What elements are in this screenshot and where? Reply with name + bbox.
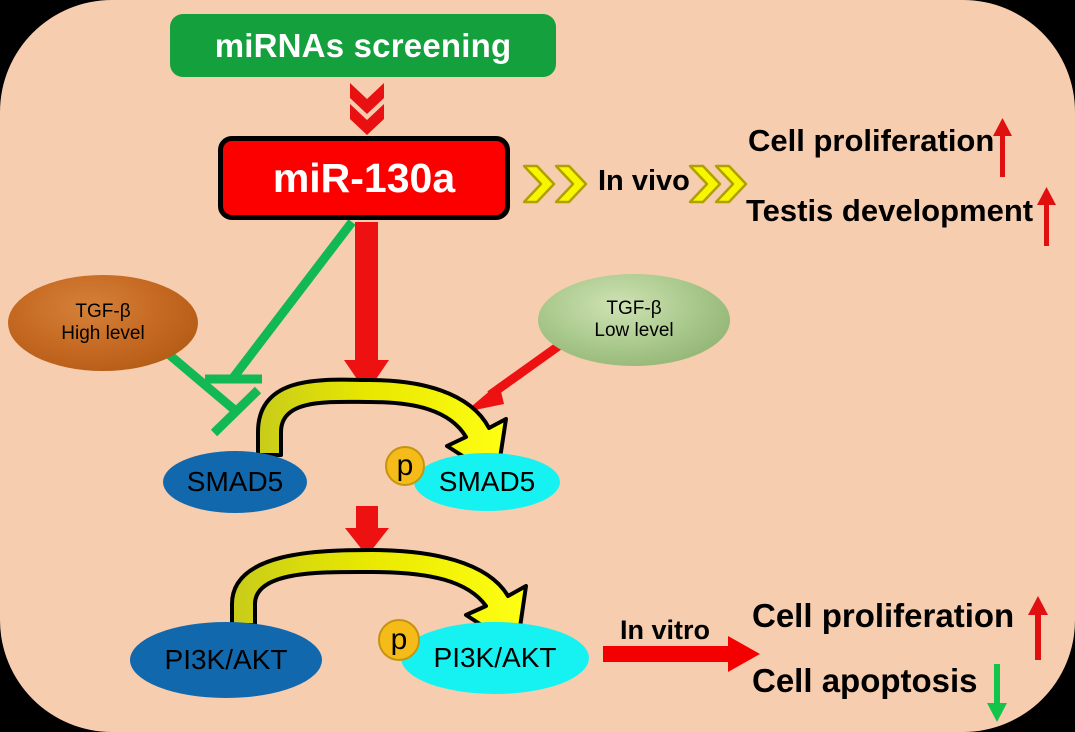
tgfb-low-level-node[interactable]: TGF-β Low level	[538, 274, 730, 366]
phosphate-badge-pi3k-icon: p	[378, 619, 420, 661]
cell-proliferation-top-label: Cell proliferation	[748, 123, 994, 159]
pi3k-akt-node[interactable]: PI3K/AKT	[130, 622, 322, 698]
smad5-label: SMAD5	[187, 466, 283, 498]
arrow-smad5-to-pi3k	[345, 506, 389, 556]
mir-130a-box[interactable]: miR-130a	[218, 136, 510, 220]
cell-apoptosis-label: Cell apoptosis	[752, 662, 978, 700]
arrow-mirna-to-smad5-pathway	[344, 222, 389, 393]
testis-development-label: Testis development	[746, 193, 1033, 229]
inhibition-from-tgfb-high	[166, 352, 258, 433]
in-vivo-label: In vivo	[598, 165, 690, 198]
in-vitro-label: In vitro	[620, 615, 710, 646]
mirnas-screening-label: miRNAs screening	[215, 27, 512, 65]
phosphate-badge-smad5-label: p	[397, 451, 414, 481]
in-vivo-chevrons-left-icon	[524, 166, 586, 202]
in-vivo-chevrons-right-icon	[690, 166, 746, 202]
pi3k-akt-phospho-node[interactable]: PI3K/AKT	[401, 622, 589, 694]
up-arrow-cell-proliferation-top-icon	[993, 118, 1012, 177]
phosphate-badge-smad5-icon: p	[385, 446, 425, 486]
up-arrow-testis-development-icon	[1037, 187, 1056, 246]
phosphate-badge-pi3k-label: p	[391, 625, 408, 655]
arrow-tgfb-low-to-smad5	[465, 345, 560, 412]
double-chevron-icon	[350, 83, 384, 135]
pi3k-akt-label: PI3K/AKT	[165, 644, 288, 676]
smad5-phospho-node[interactable]: SMAD5	[414, 453, 560, 511]
tgfb-high-line1: TGF-β	[61, 301, 144, 323]
inhibition-from-mirna	[205, 222, 352, 379]
tgfb-low-line2: Low level	[594, 320, 673, 342]
tgfb-high-line2: High level	[61, 323, 144, 345]
cell-proliferation-bottom-label: Cell proliferation	[752, 597, 1014, 635]
pi3k-akt-phospho-label: PI3K/AKT	[434, 642, 557, 674]
tgfb-low-line1: TGF-β	[594, 298, 673, 320]
smad5-node[interactable]: SMAD5	[163, 451, 307, 513]
tgfb-high-level-node[interactable]: TGF-β High level	[8, 275, 198, 371]
mir-130a-label: miR-130a	[273, 155, 455, 202]
mirnas-screening-box[interactable]: miRNAs screening	[170, 14, 556, 77]
smad5-phospho-label: SMAD5	[439, 466, 535, 498]
up-arrow-cell-proliferation-bottom-icon	[1028, 596, 1048, 660]
down-arrow-cell-apoptosis-icon	[987, 664, 1007, 722]
figure-canvas: miRNAs screening miR-130a TGF-β High lev…	[0, 0, 1075, 732]
